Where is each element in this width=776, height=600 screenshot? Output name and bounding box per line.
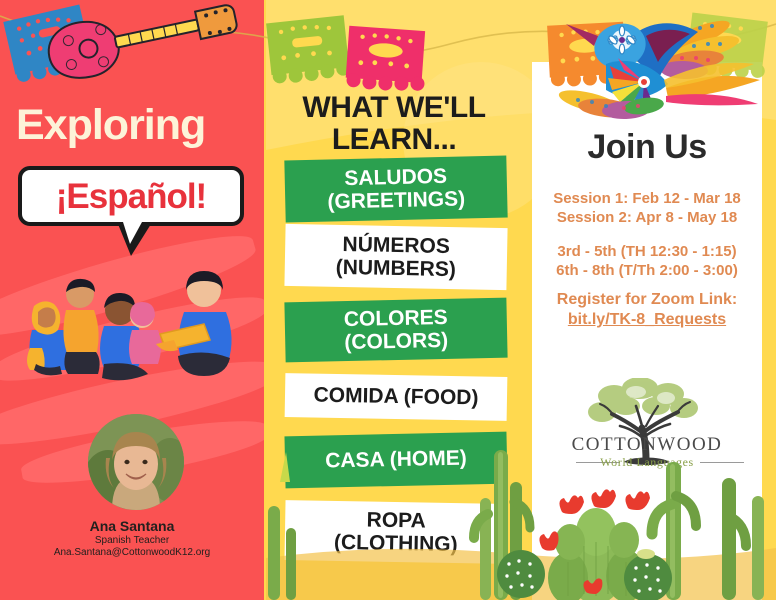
- register-link[interactable]: bit.ly/TK-8_Requests: [532, 310, 762, 330]
- join-us-title: Join Us: [532, 128, 762, 167]
- avatar: [88, 414, 184, 510]
- topic-label: COMIDA (FOOD): [313, 384, 478, 410]
- alebrije-bird: [548, 2, 760, 124]
- teacher-name: Ana Santana: [0, 518, 264, 534]
- topic-label: SALUDOS(GREETINGS): [327, 164, 466, 213]
- register-label: Register for Zoom Link:: [532, 290, 762, 310]
- register-block: Register for Zoom Link: bit.ly/TK-8_Requ…: [532, 290, 762, 330]
- page-title: Exploring: [16, 104, 256, 147]
- topic-comida[interactable]: COMIDA (FOOD): [285, 373, 508, 421]
- learn-heading-line-2: LEARN...: [276, 124, 512, 156]
- topic-numeros[interactable]: NÚMEROS(NUMBERS): [284, 224, 507, 290]
- topic-colores[interactable]: COLORES(COLORS): [284, 298, 507, 363]
- topic-label: NÚMEROS(NUMBERS): [335, 233, 456, 281]
- grades-3-5: 3rd - 5th (TH 12:30 - 1:15): [532, 243, 762, 262]
- grades-6-8: 6th - 8th (T/Th 2:00 - 3:00): [532, 262, 762, 281]
- espanol-text: ¡Español!: [56, 179, 206, 214]
- topic-saludos[interactable]: SALUDOS(GREETINGS): [284, 155, 507, 222]
- teacher-portrait: [88, 414, 184, 510]
- students-sitting-with-teacher-illustration: [8, 252, 256, 392]
- teacher-email: Ana.Santana@CottonwoodK12.org: [0, 547, 264, 558]
- learn-heading-line-1: WHAT WE'LL: [276, 92, 512, 124]
- teacher-role: Spanish Teacher: [0, 535, 264, 546]
- topic-label: COLORES(COLORS): [344, 306, 449, 354]
- session-1: Session 1: Feb 12 - Mar 18: [532, 190, 762, 209]
- session-2: Session 2: Apr 8 - May 18: [532, 209, 762, 228]
- learn-heading: WHAT WE'LL LEARN...: [276, 92, 512, 157]
- poster-canvas: Exploring ¡Español!: [0, 0, 776, 600]
- espanol-speech-bubble: ¡Español!: [18, 166, 244, 226]
- grades-block: 3rd - 5th (TH 12:30 - 1:15) 6th - 8th (T…: [532, 243, 762, 281]
- cactus-row: [266, 440, 776, 600]
- sessions-block: Session 1: Feb 12 - Mar 18 Session 2: Ap…: [532, 190, 762, 228]
- speech-bubble-tail-inner: [123, 222, 142, 244]
